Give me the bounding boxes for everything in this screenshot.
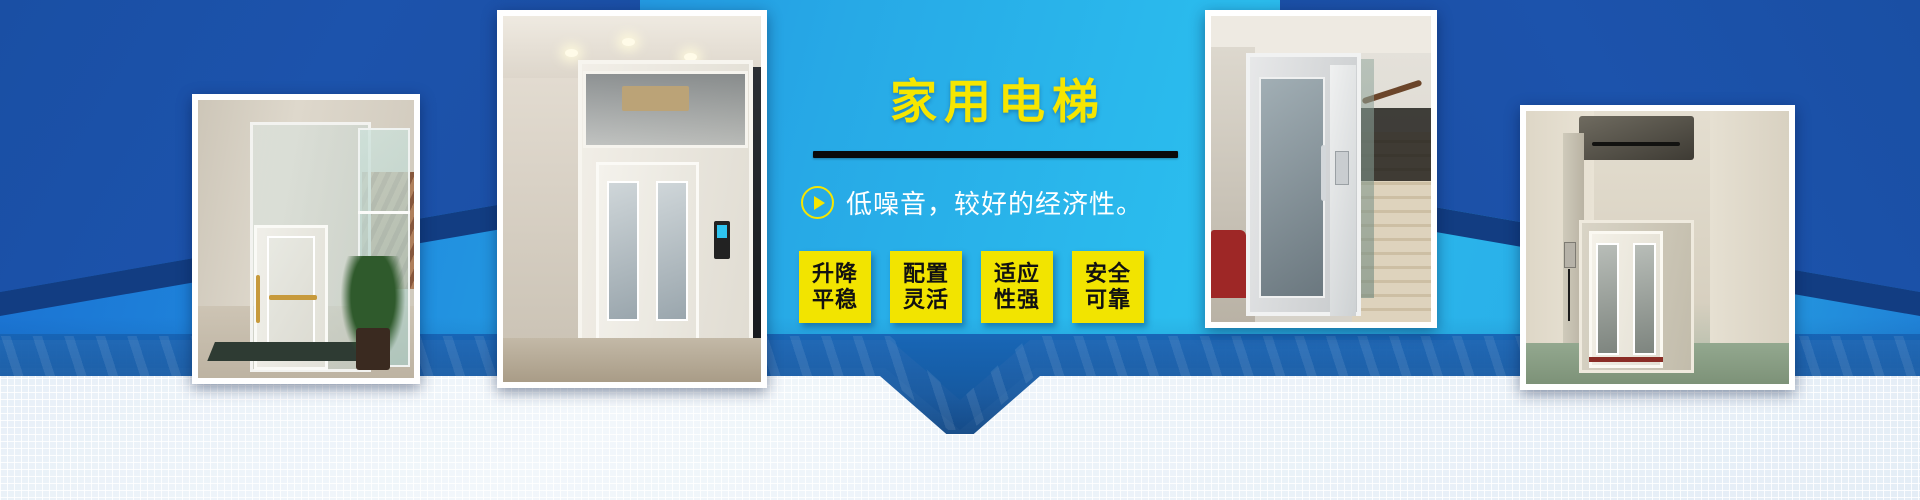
badge-line-1: 适应 (994, 261, 1040, 287)
badge-line-2: 平稳 (812, 287, 858, 313)
circle-arrow-right-icon (801, 186, 834, 219)
photo-glass-home-lift-stairs[interactable] (192, 94, 420, 384)
feature-badge[interactable]: 升降 平稳 (799, 251, 871, 323)
photo-steel-lift-marble-stairs[interactable] (1205, 10, 1437, 328)
title-divider (813, 151, 1178, 158)
photo-lift-under-construction[interactable] (1520, 105, 1795, 390)
photo-white-lift-hallway[interactable] (497, 10, 767, 388)
feature-badge[interactable]: 配置 灵活 (890, 251, 962, 323)
badge-line-1: 安全 (1085, 261, 1131, 287)
banner-text-block: 家用电梯 低噪音，较好的经济性。 升降 平稳 配置 灵活 适应 性强 安全 (795, 78, 1195, 323)
badge-line-2: 性强 (994, 287, 1040, 313)
feature-badge[interactable]: 适应 性强 (981, 251, 1053, 323)
page-title: 家用电梯 (795, 78, 1195, 125)
home-elevator-banner: 家用电梯 低噪音，较好的经济性。 升降 平稳 配置 灵活 适应 性强 安全 (0, 0, 1920, 500)
badge-line-2: 灵活 (903, 287, 949, 313)
photo-4-image (1526, 111, 1789, 384)
banner-subtitle: 低噪音，较好的经济性。 (846, 184, 1143, 221)
photo-2-image (503, 16, 761, 382)
feature-badge[interactable]: 安全 可靠 (1072, 251, 1144, 323)
photo-1-image (198, 100, 414, 378)
badge-line-1: 升降 (812, 261, 858, 287)
subtitle-row: 低噪音，较好的经济性。 (795, 184, 1195, 221)
photo-3-image (1211, 16, 1431, 322)
feature-badge-list: 升降 平稳 配置 灵活 适应 性强 安全 可靠 (795, 251, 1195, 323)
badge-line-2: 可靠 (1085, 287, 1131, 313)
badge-line-1: 配置 (903, 261, 949, 287)
